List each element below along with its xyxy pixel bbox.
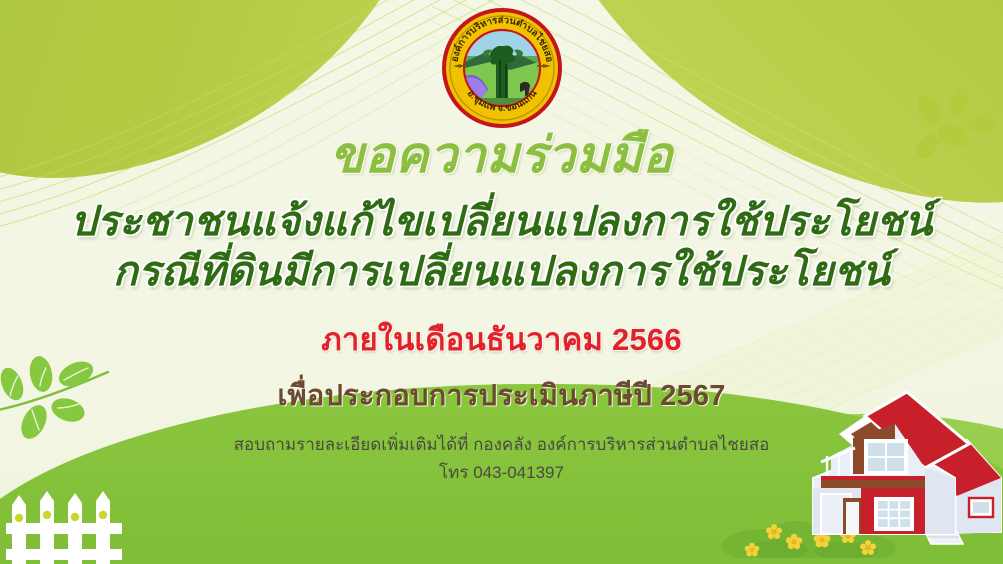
contact-phone-line: โทร 043-041397 [0,460,1003,486]
announcement-banner: องค์การบริหารส่วนตำบลไชยสอ อ.ชุมแพ จ.ขอน… [0,0,1003,564]
headline-cooperation-request: ขอความร่วมมือ [0,126,1003,185]
picket-fence [6,479,136,564]
main-message-line-2: กรณีที่ดินมีการเปลี่ยนแปลงการใช้ประโยชน์ [0,245,1003,297]
organization-seal: องค์การบริหารส่วนตำบลไชยสอ อ.ชุมแพ จ.ขอน… [440,6,564,130]
seal-graphic: องค์การบริหารส่วนตำบลไชยสอ อ.ชุมแพ จ.ขอน… [440,6,564,130]
contact-information-line: สอบถามรายละเอียดเพิ่มเติมได้ที่ กองคลัง … [0,432,1003,458]
announcement-text-block: ขอความร่วมมือ ประชาชนแจ้งแก้ไขเปลี่ยนแปล… [0,126,1003,487]
purpose-text: เพื่อประกอบการประเมินภาษีปี 2567 [0,372,1003,418]
main-message-line-1: ประชาชนแจ้งแก้ไขเปลี่ยนแปลงการใช้ประโยชน… [0,195,1003,247]
deadline-text: ภายในเดือนธันวาคม 2566 [0,314,1003,364]
